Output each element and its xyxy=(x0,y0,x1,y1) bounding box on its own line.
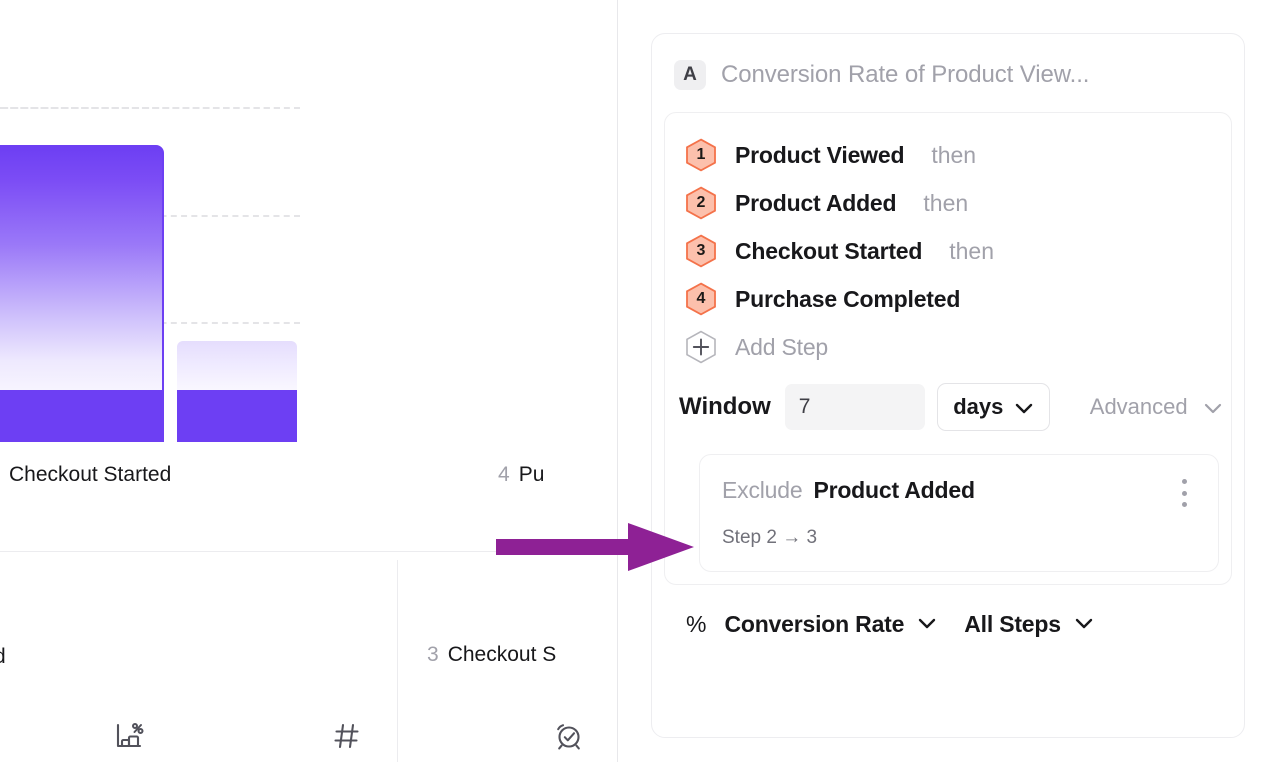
bar-checkout-started[interactable] xyxy=(0,145,164,392)
step-connector: then xyxy=(949,238,994,265)
step-number-hexagon-icon: 2 xyxy=(685,186,717,220)
gridline xyxy=(140,322,300,324)
percent-icon: % xyxy=(686,611,706,638)
hash-icon xyxy=(330,719,364,758)
chevron-down-icon xyxy=(1204,394,1222,420)
step-connector: then xyxy=(923,190,968,217)
step-number: 3 xyxy=(697,242,706,260)
bar-purchase-completed[interactable] xyxy=(177,341,297,392)
lower-label-text: Checkout S xyxy=(448,643,557,666)
bar-gradient-fill xyxy=(0,145,164,392)
step-row-2[interactable]: 2 Product Added then xyxy=(665,179,1231,227)
alarm-check-icon xyxy=(552,719,586,758)
panel-footer: % Conversion Rate All Steps xyxy=(652,585,1244,638)
series-letter-badge: A xyxy=(674,60,706,90)
bar-gradient-fill xyxy=(177,341,297,392)
kebab-dot xyxy=(1182,502,1187,507)
screen: 18.23% 1,065 Checkout Started 4Pu d 3Che… xyxy=(0,0,1264,762)
step-number-hexagon-icon: 4 xyxy=(685,282,717,316)
axis-label-purchase-completed[interactable]: 4Pu xyxy=(498,463,544,487)
column-divider xyxy=(397,560,398,762)
metric-dropdown-label[interactable]: Conversion Rate xyxy=(724,611,904,638)
gridline xyxy=(0,107,280,109)
panel-header: A Conversion Rate of Product View... xyxy=(652,34,1244,112)
axis-label-checkout-started[interactable]: Checkout Started xyxy=(0,463,171,487)
window-unit-dropdown[interactable]: days xyxy=(937,383,1050,431)
scope-dropdown-label[interactable]: All Steps xyxy=(964,611,1061,638)
add-step-button[interactable]: Add Step xyxy=(665,323,1231,371)
step-event-name: Purchase Completed xyxy=(735,286,960,313)
step-event-name: Product Viewed xyxy=(735,142,904,169)
step-row-3[interactable]: 3 Checkout Started then xyxy=(665,227,1231,275)
step-number: 2 xyxy=(697,194,706,212)
funnel-definition-panel: A Conversion Rate of Product View... 1 P… xyxy=(651,33,1245,738)
hash-icon-button[interactable] xyxy=(325,716,369,760)
page-title[interactable]: Conversion Rate of Product View... xyxy=(721,61,1089,89)
step-connector: then xyxy=(931,142,976,169)
bar-base-block xyxy=(0,390,164,442)
lower-label-checkout-started[interactable]: 3Checkout S xyxy=(427,643,556,667)
kebab-dot xyxy=(1182,491,1187,496)
step-row-1[interactable]: 1 Product Viewed then xyxy=(665,131,1231,179)
chevron-down-icon[interactable] xyxy=(918,616,936,634)
lower-index: 3 xyxy=(427,643,439,666)
plus-hexagon-icon xyxy=(685,330,717,364)
pane-split-divider xyxy=(617,0,618,762)
lower-label-text: d xyxy=(0,645,6,668)
axis-index: 4 xyxy=(498,463,510,486)
exclude-step-range: Step 2 → 3 xyxy=(722,527,1196,549)
advanced-label: Advanced xyxy=(1090,394,1188,420)
window-value-input[interactable] xyxy=(785,384,925,430)
kebab-dot xyxy=(1182,479,1187,484)
axis-name: Checkout Started xyxy=(9,463,171,486)
funnel-percent-icon xyxy=(112,719,146,758)
window-unit-label: days xyxy=(953,394,1003,420)
advanced-dropdown[interactable]: Advanced xyxy=(1090,394,1222,420)
step-event-name: Product Added xyxy=(735,190,896,217)
exclude-prefix: Exclude xyxy=(722,477,802,504)
chevron-down-icon[interactable] xyxy=(1075,616,1093,634)
step-number: 1 xyxy=(697,146,706,164)
alarm-check-icon-button[interactable] xyxy=(547,716,591,760)
funnel-chart-pane: 18.23% 1,065 Checkout Started 4Pu d 3Che… xyxy=(0,0,617,762)
gridline xyxy=(140,215,300,217)
step-number-hexagon-icon: 3 xyxy=(685,234,717,268)
exclude-rule-title: Exclude Product Added xyxy=(722,477,1196,504)
funnel-percent-icon-button[interactable] xyxy=(107,716,151,760)
exclude-event-name: Product Added xyxy=(813,477,974,504)
axis-name: Pu xyxy=(519,463,545,486)
bar-base-block xyxy=(177,390,297,442)
conversion-window-row: Window days Advanced xyxy=(665,371,1231,431)
lower-label-product-added[interactable]: d xyxy=(0,645,6,669)
step-row-4[interactable]: 4 Purchase Completed xyxy=(665,275,1231,323)
step-number-hexagon-icon: 1 xyxy=(685,138,717,172)
window-label: Window xyxy=(679,393,771,421)
kebab-menu-icon[interactable] xyxy=(1172,479,1196,507)
exclude-rule-card[interactable]: Exclude Product Added Step 2 → 3 xyxy=(699,454,1219,572)
steps-card: 1 Product Viewed then 2 Product Added th… xyxy=(664,112,1232,585)
step-event-name: Checkout Started xyxy=(735,238,922,265)
annotation-arrow-icon xyxy=(496,521,696,573)
chevron-down-icon xyxy=(1015,394,1033,420)
add-step-label: Add Step xyxy=(735,334,828,361)
step-number: 4 xyxy=(697,290,706,308)
